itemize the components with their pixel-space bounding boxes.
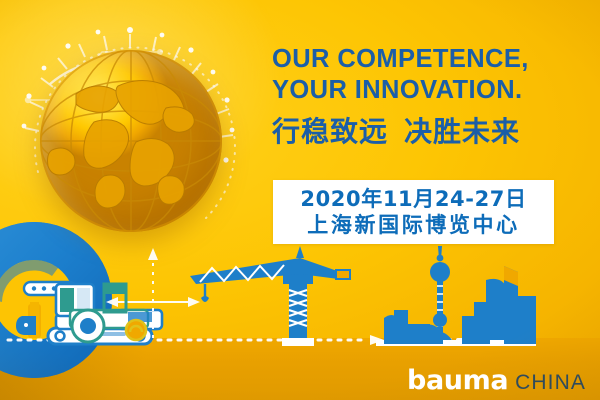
bauma-china-banner: OUR COMPETENCE, YOUR INNOVATION. 行稳致远决胜未…	[0, 0, 600, 400]
logo-wordmark: bauma	[407, 367, 508, 394]
logo-region: CHINA	[515, 372, 586, 394]
bauma-china-logo: bauma CHINA	[407, 367, 586, 394]
background-vignette	[0, 0, 600, 400]
